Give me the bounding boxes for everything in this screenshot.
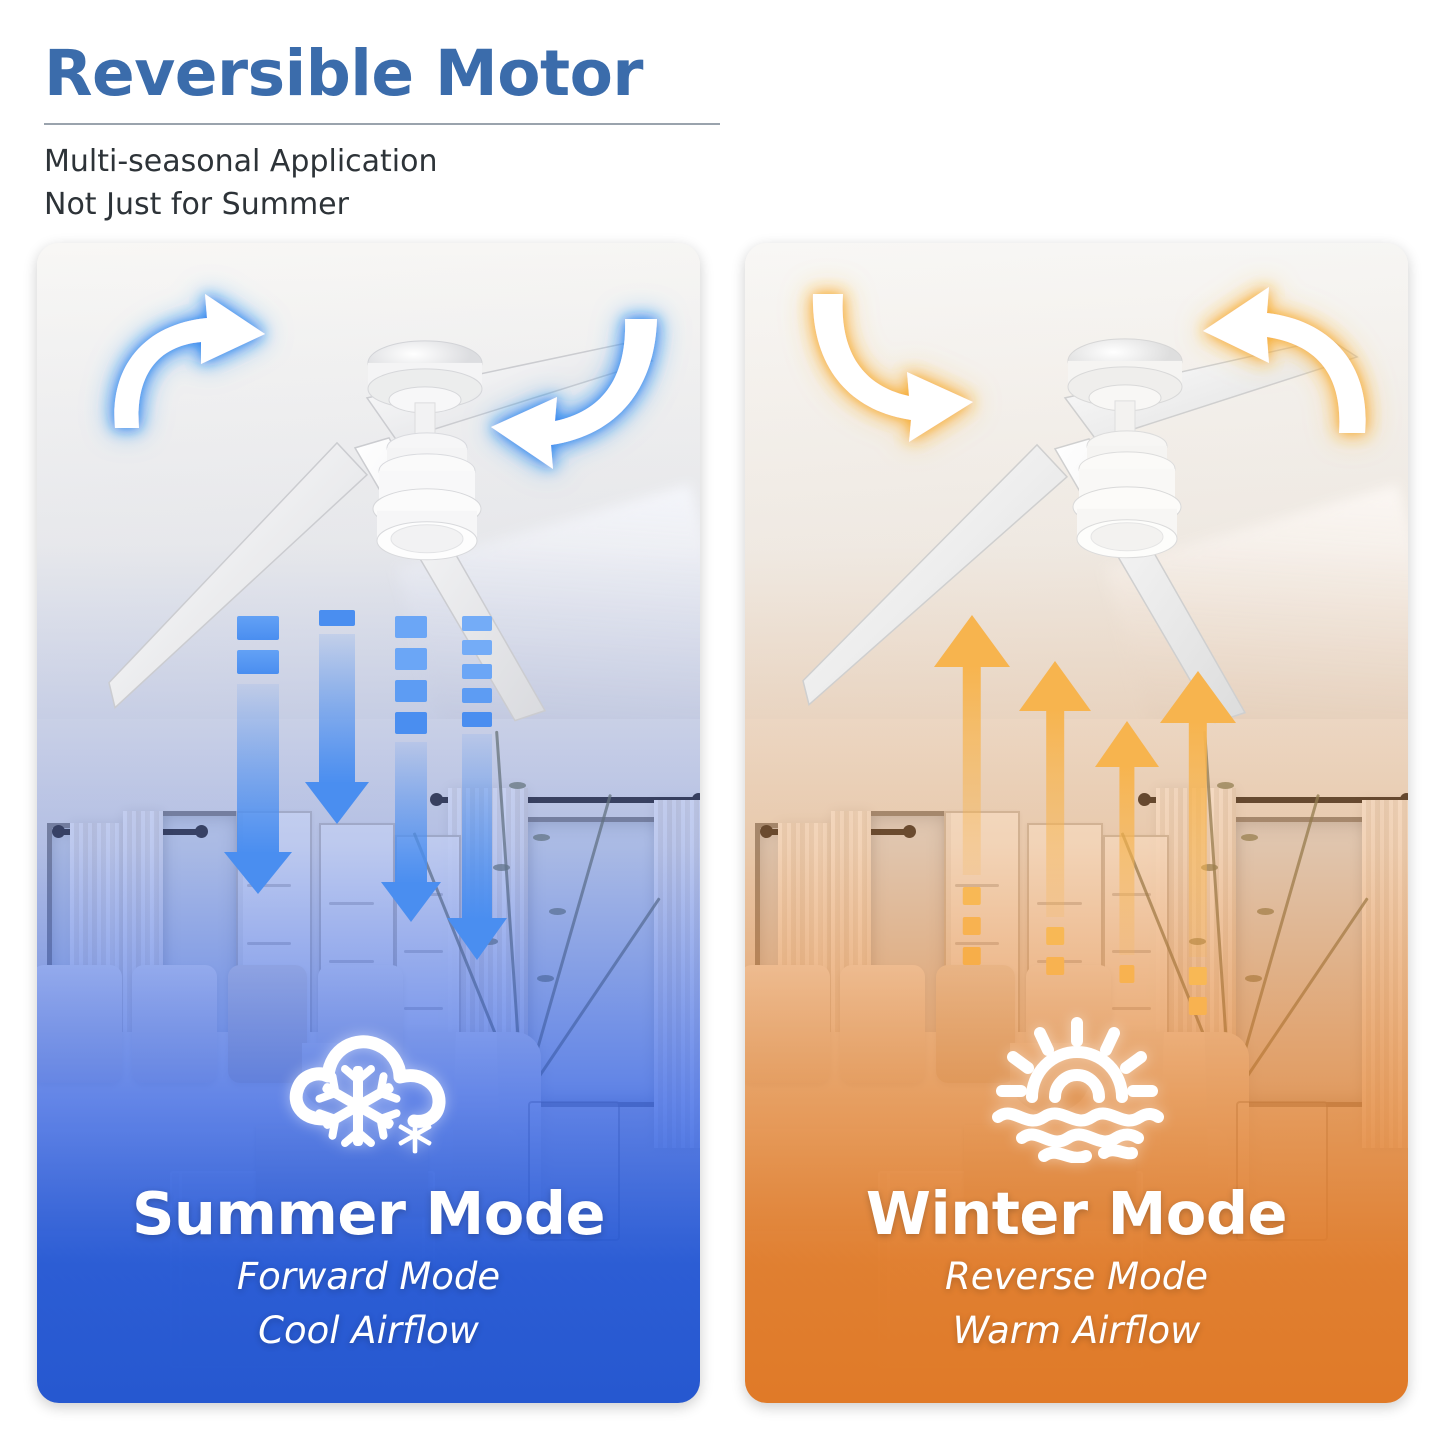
title-divider: [44, 123, 720, 125]
winter-mode-labels: Winter Mode Reverse Mode Warm Airflow: [745, 1181, 1408, 1355]
page-title: Reversible Motor: [44, 40, 1404, 108]
summer-mode-labels: Summer Mode Forward Mode Cool Airflow: [37, 1181, 700, 1355]
airflow-arrow-down: [237, 616, 279, 884]
mode-panels: Summer Mode Forward Mode Cool Airflow: [37, 243, 1408, 1403]
airflow-arrow-up: [1033, 661, 1077, 993]
mode-sub-line-1: Forward Mode: [37, 1253, 700, 1301]
curved-arrow-down-right-icon: [805, 288, 985, 443]
curtain: [1362, 800, 1408, 1148]
airflow-arrow-up: [1107, 721, 1147, 1021]
mode-title: Winter Mode: [745, 1181, 1408, 1247]
curved-arrow-down-left-icon: [477, 311, 667, 471]
mode-sub-line-1: Reverse Mode: [745, 1253, 1408, 1301]
cloud-snow-icon: [280, 1013, 458, 1163]
mode-sub-line-2: Warm Airflow: [745, 1307, 1408, 1355]
winter-mode-panel: Winter Mode Reverse Mode Warm Airflow: [745, 243, 1408, 1403]
summer-mode-panel: Summer Mode Forward Mode Cool Airflow: [37, 243, 700, 1403]
mode-sub-line-2: Cool Airflow: [37, 1307, 700, 1355]
infographic-page: Reversible Motor Multi-seasonal Applicat…: [0, 0, 1445, 1445]
mode-title: Summer Mode: [37, 1181, 700, 1247]
airflow-arrow-down: [462, 616, 492, 964]
sunrise-waves-icon: [988, 1013, 1166, 1163]
curved-arrow-up-right-icon: [1175, 273, 1375, 443]
header: Reversible Motor Multi-seasonal Applicat…: [44, 40, 1404, 226]
curtain: [654, 800, 700, 1148]
airflow-arrow-up: [950, 615, 994, 975]
subtitle-line-2: Not Just for Summer: [44, 184, 1404, 227]
subtitle-line-1: Multi-seasonal Application: [44, 141, 1404, 184]
airflow-arrow-down: [395, 616, 427, 926]
airflow-arrow-down: [319, 610, 355, 826]
curved-arrow-up-left-icon: [97, 288, 277, 438]
airflow-arrow-up: [1175, 671, 1221, 1021]
